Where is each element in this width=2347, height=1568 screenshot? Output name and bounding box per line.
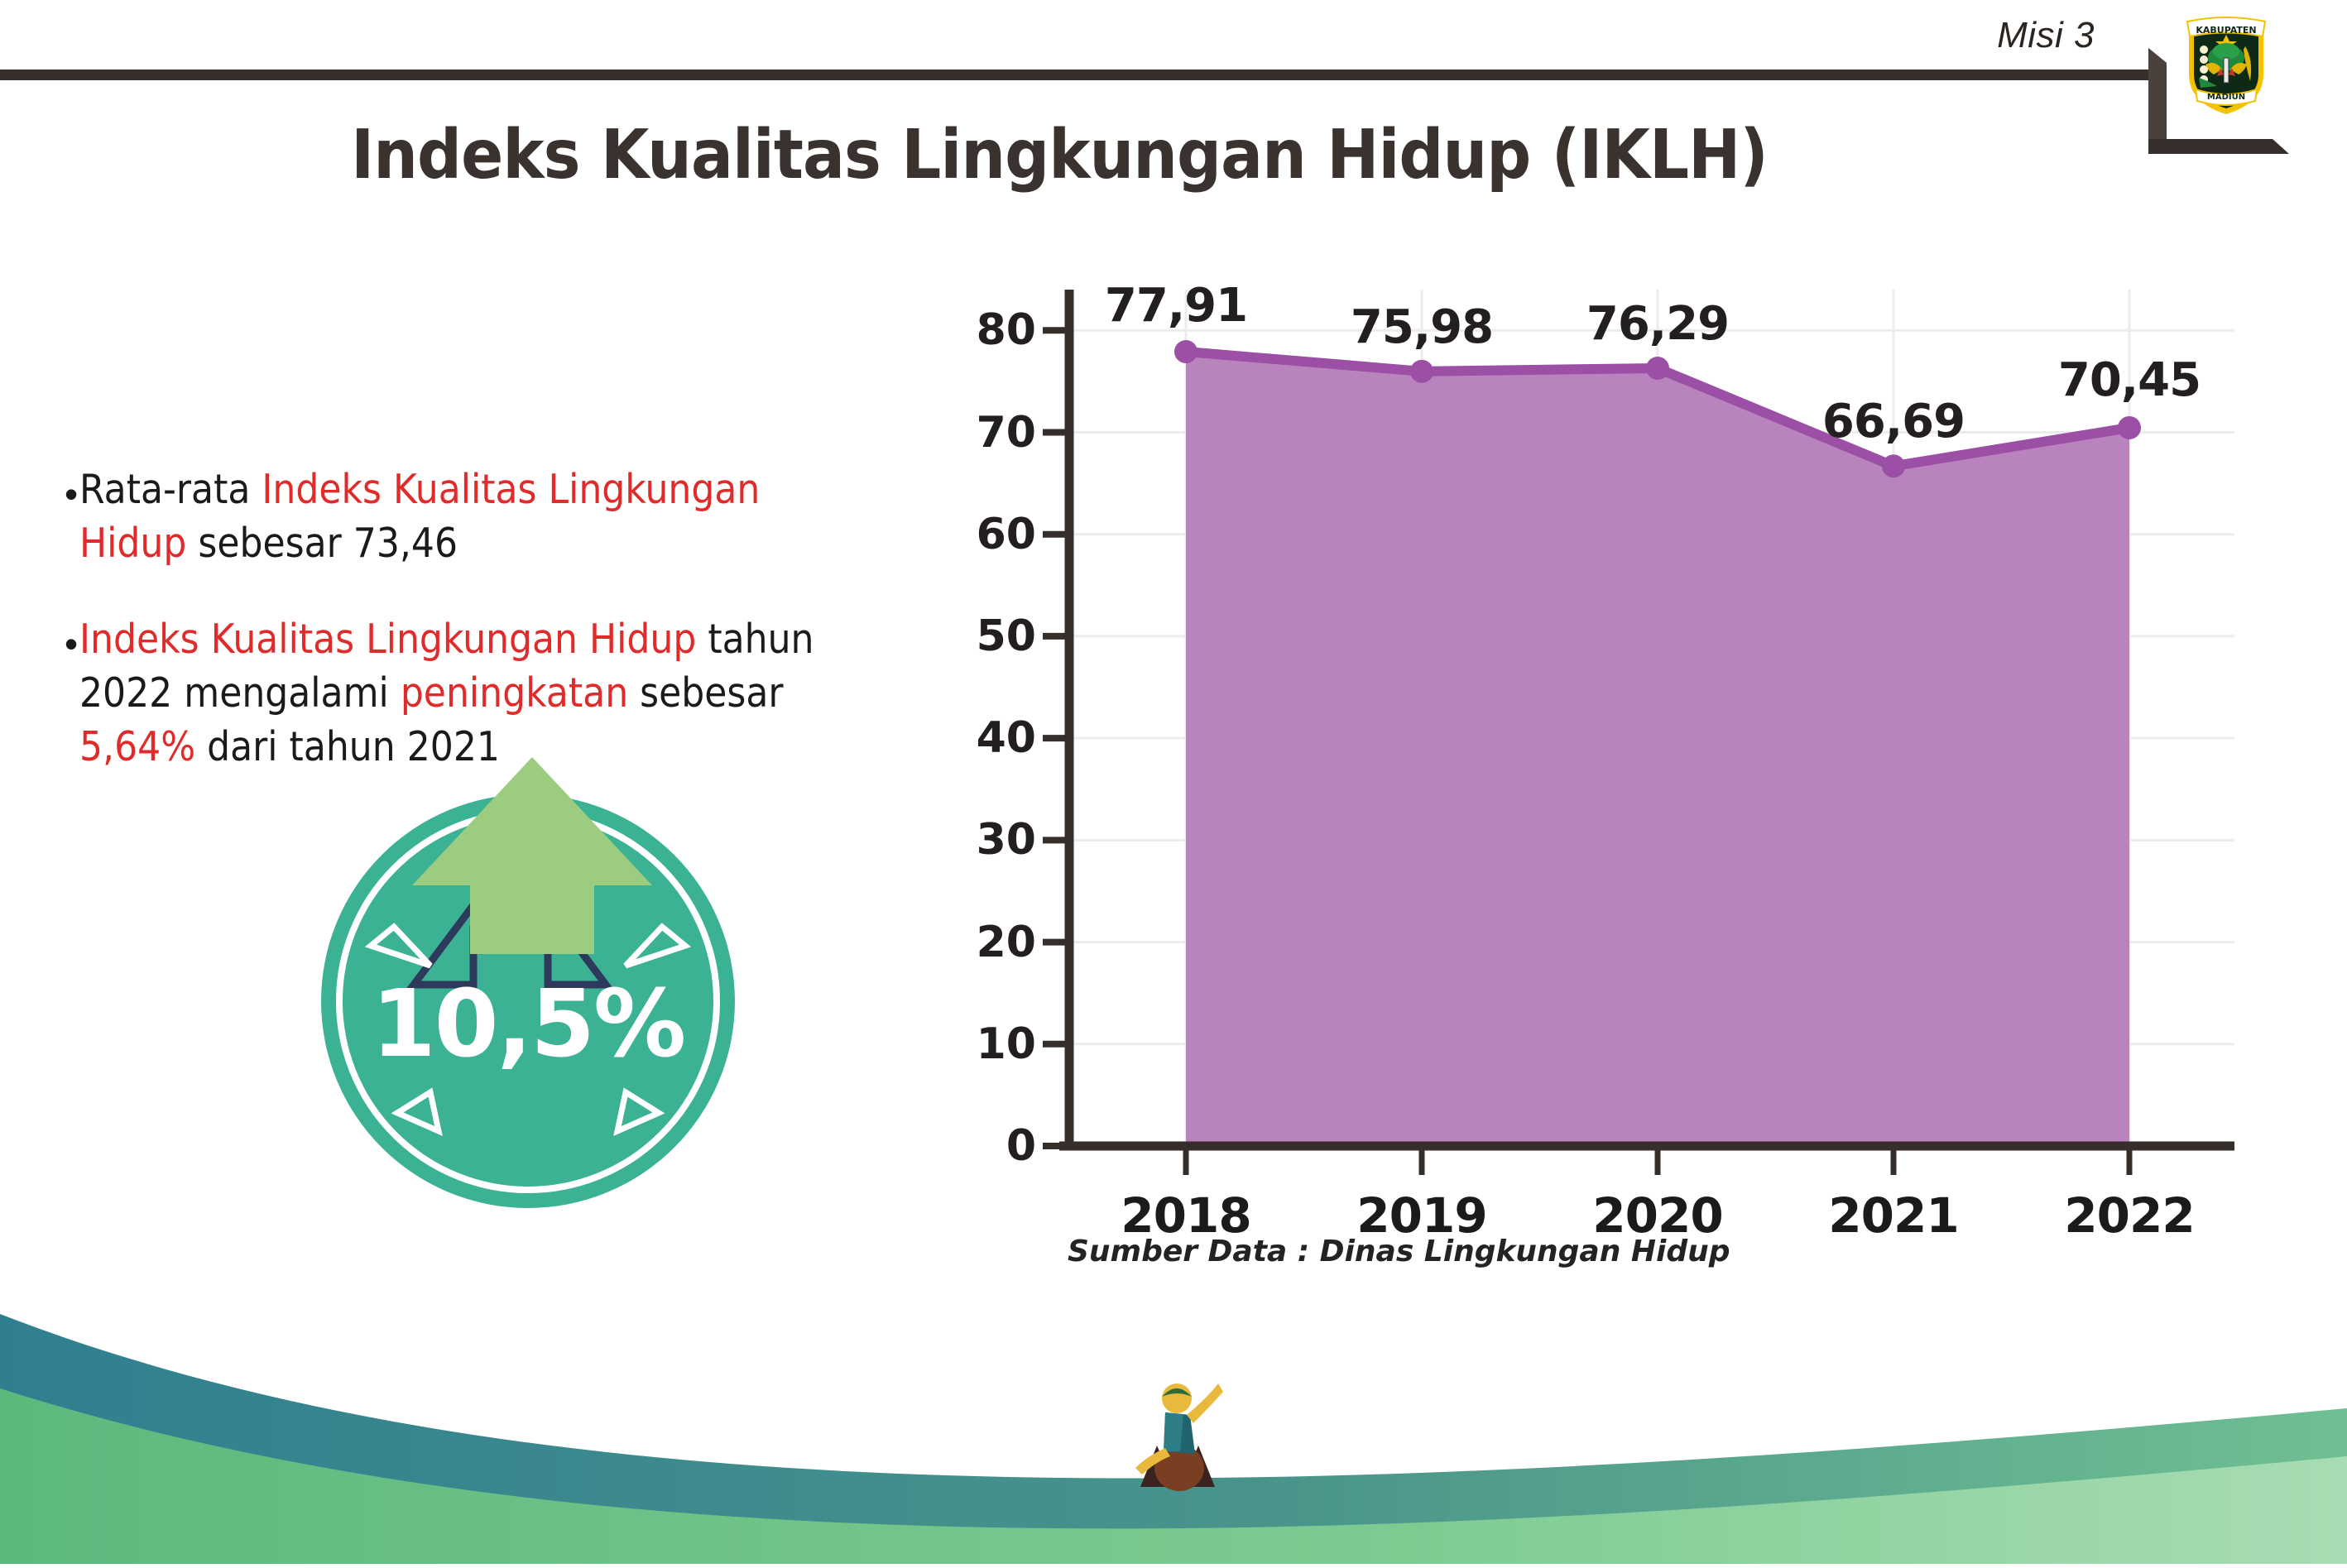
- page-title: Indeks Kualitas Lingkungan Hidup (IKLH): [84, 116, 2033, 194]
- y-axis-tick-label: 50: [953, 611, 1036, 661]
- data-point-label: 77,91: [1068, 279, 1284, 333]
- kabupaten-madiun-logo-icon: KABUPATEN MADIUN: [2181, 10, 2272, 117]
- y-axis-tick-label: 70: [953, 408, 1036, 458]
- list-item: • Rata-rata Indeks Kualitas Lingkungan H…: [65, 463, 967, 570]
- bullet-segment: Rata-rata: [79, 466, 262, 513]
- bullet-segment: sebesar 73,46: [186, 520, 458, 567]
- y-axis-tick-label: 20: [953, 918, 1036, 967]
- page-footer: Media Infografis Data Statistik Sektoral…: [0, 1291, 2347, 1564]
- badge-value: 10,5%: [321, 971, 735, 1078]
- data-point: [1410, 360, 1433, 383]
- bullet-segment: peningkatan: [401, 669, 628, 717]
- data-point: [1174, 340, 1197, 363]
- bullet-segment: sebesar: [628, 669, 783, 717]
- bullet-dot-icon: •: [65, 475, 78, 513]
- bullet-text-0: Rata-rata Indeks Kualitas Lingkungan Hid…: [79, 463, 878, 570]
- footer-text: Media Infografis Data Statistik Sektoral…: [1221, 1377, 2291, 1466]
- y-axis-tick-label: 40: [953, 713, 1036, 763]
- y-axis-tick-label: 80: [953, 305, 1036, 355]
- y-axis-tick-label: 60: [953, 510, 1036, 559]
- bullet-segment: 5,64%: [79, 723, 195, 770]
- misi-label: Misi 3: [1997, 15, 2095, 56]
- statistics-mascot-icon: [1132, 1375, 1227, 1491]
- y-axis-tick-label: 30: [953, 815, 1036, 865]
- x-axis-tick-label: 2021: [1802, 1187, 1985, 1244]
- x-axis-tick-label: 2022: [2038, 1187, 2220, 1244]
- chart-canvas: [977, 273, 2268, 1208]
- bullet-dot-icon: •: [65, 625, 78, 663]
- header-divider-rule: [0, 70, 2157, 80]
- increase-badge: 10,5%: [321, 749, 785, 1212]
- data-point: [2118, 416, 2141, 439]
- svg-text:MADIUN: MADIUN: [2207, 93, 2245, 102]
- data-point-label: 76,29: [1550, 297, 1765, 351]
- svg-text:KABUPATEN: KABUPATEN: [2196, 25, 2256, 36]
- y-axis-tick-label: 10: [953, 1019, 1036, 1069]
- data-point: [1882, 454, 1905, 477]
- bullet-segment: Indeks Kualitas Lingkungan Hidup: [79, 616, 696, 663]
- data-point: [1646, 357, 1669, 380]
- chart-source-note: Sumber Data : Dinas Lingkungan Hidup: [1068, 1235, 1730, 1268]
- data-point-label: 75,98: [1314, 300, 1529, 354]
- data-point-label: 66,69: [1786, 395, 2001, 448]
- y-axis-tick-label: 0: [953, 1121, 1036, 1171]
- iklh-area-chart: 80706050403020100 20182019202020212022 7…: [977, 273, 2268, 1208]
- chart-area-fill: [1186, 352, 2129, 1146]
- data-point-label: 70,45: [2022, 353, 2237, 407]
